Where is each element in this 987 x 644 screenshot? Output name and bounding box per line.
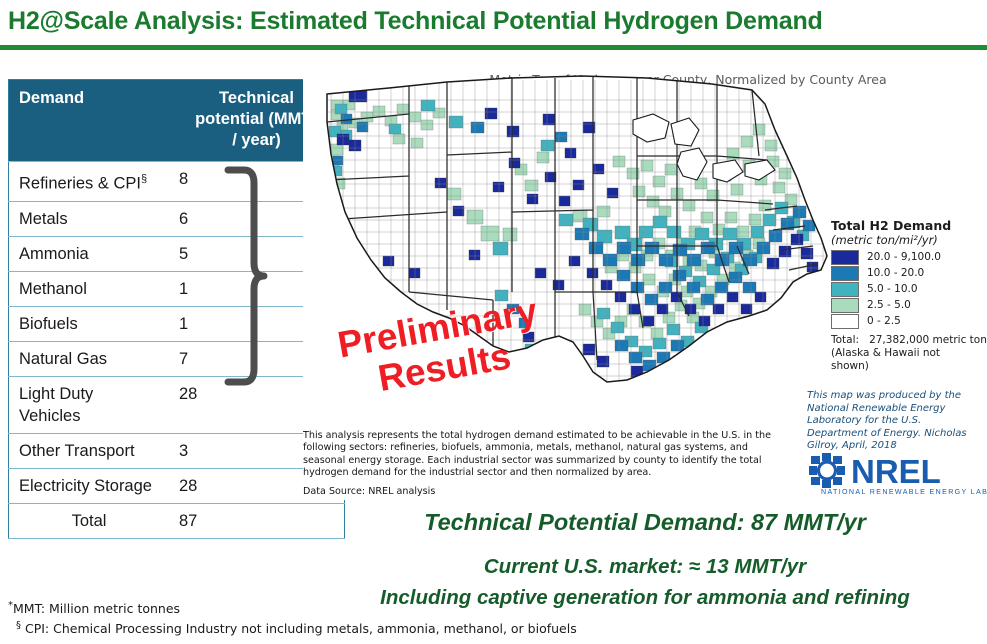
nrel-logo: NREL NATIONAL RENEWABLE ENERGY LABORATOR… — [807, 450, 987, 498]
footnote-marker: § — [141, 173, 147, 185]
column-header-line2: potential (MMT* — [195, 110, 318, 128]
legend-swatch — [831, 282, 859, 297]
legend-item: 2.5 - 5.0 — [831, 298, 981, 313]
table-header-row: Demand Technical potential (MMT* / year) — [9, 80, 345, 162]
column-header-line3: / year) — [232, 131, 281, 149]
cell-demand: Refineries & CPI§ — [9, 162, 170, 202]
column-header-line1: Technical — [219, 89, 294, 107]
cell-demand: Metals — [9, 201, 170, 236]
table-row: Natural Gas7 — [9, 341, 345, 376]
legend-label: 2.5 - 5.0 — [867, 299, 911, 312]
table-row: Methanol1 — [9, 271, 345, 306]
legend-item: 0 - 2.5 — [831, 314, 981, 329]
table-body: Refineries & CPI§8Metals6Ammonia5Methano… — [9, 162, 345, 539]
map-analysis-note: This analysis represents the total hydro… — [303, 430, 773, 479]
title-divider — [0, 45, 987, 50]
legend-units: (metric ton/mi²/yr) — [831, 233, 981, 247]
cell-demand: Other Transport — [9, 433, 170, 468]
legend-label: 10.0 - 20.0 — [867, 267, 924, 280]
table-row: Other Transport3 — [9, 433, 345, 468]
legend-item: 5.0 - 10.0 — [831, 282, 981, 297]
cell-demand: Natural Gas — [9, 341, 170, 376]
table-row: Refineries & CPI§8 — [9, 162, 345, 202]
map-data-source: Data Source: NREL analysis — [303, 486, 435, 497]
table-total-row: Total87 — [9, 503, 345, 538]
legend-item: 20.0 - 9,100.0 — [831, 250, 981, 265]
legend-label: 0 - 2.5 — [867, 315, 901, 328]
demand-table: Demand Technical potential (MMT* / year)… — [8, 79, 345, 539]
legend-swatch — [831, 298, 859, 313]
map-legend: Total H2 Demand (metric ton/mi²/yr) 20.0… — [831, 218, 981, 373]
cell-demand: Biofuels — [9, 306, 170, 341]
slide-root: H2@Scale Analysis: Estimated Technical P… — [0, 0, 987, 644]
table-header: Demand Technical potential (MMT* / year) — [9, 80, 345, 162]
summary-captive-generation: Including captive generation for ammonia… — [313, 586, 977, 610]
legend-note: (Alaska & Hawaii not shown) — [831, 347, 981, 373]
footnote-cpi: § CPI: Chemical Processing Industry not … — [16, 620, 577, 636]
map-panel: Metric Ton of Hydrogen per County, Norma… — [303, 58, 987, 500]
legend-rows: 20.0 - 9,100.010.0 - 20.05.0 - 10.02.5 -… — [831, 250, 981, 329]
nrel-logo-mark — [809, 453, 845, 488]
cell-demand: Ammonia — [9, 236, 170, 271]
cell-demand: Electricity Storage — [9, 468, 170, 503]
nrel-logo-tagline: NATIONAL RENEWABLE ENERGY LABORATORY — [821, 488, 987, 496]
legend-label: 20.0 - 9,100.0 — [867, 251, 941, 264]
legend-swatch — [831, 314, 859, 329]
column-header-demand: Demand — [9, 80, 170, 162]
table-row: Metals6 — [9, 201, 345, 236]
table-row: Ammonia5 — [9, 236, 345, 271]
legend-swatch — [831, 250, 859, 265]
footnote-text-cpi: CPI: Chemical Processing Industry not in… — [25, 621, 577, 636]
table-row: Light Duty Vehicles28 — [9, 376, 345, 433]
legend-swatch — [831, 266, 859, 281]
page-title: H2@Scale Analysis: Estimated Technical P… — [8, 4, 979, 38]
cell-total-label: Total — [9, 503, 170, 538]
summary-technical-potential: Technical Potential Demand: 87 MMT/yr — [313, 509, 977, 536]
nrel-logo-wordmark: NREL — [851, 453, 941, 490]
summary-current-market: Current U.S. market: ≈ 13 MMT/yr — [313, 555, 977, 579]
cell-demand: Light Duty Vehicles — [9, 376, 170, 433]
table-row: Biofuels1 — [9, 306, 345, 341]
footnote-mmt: *MMT: Million metric tonnes — [8, 600, 180, 616]
legend-total: Total: 27,382,000 metric ton H2 / yr — [831, 334, 981, 347]
legend-title: Total H2 Demand — [831, 218, 981, 233]
footnote-mark-section: § — [16, 620, 21, 631]
cell-demand: Methanol — [9, 271, 170, 306]
footnote-text-mmt: MMT: Million metric tonnes — [13, 601, 180, 616]
nrel-credit-text: This map was produced by the National Re… — [807, 390, 979, 453]
legend-item: 10.0 - 20.0 — [831, 266, 981, 281]
legend-label: 5.0 - 10.0 — [867, 283, 918, 296]
table-row: Electricity Storage28 — [9, 468, 345, 503]
nrel-logo-svg: NREL NATIONAL RENEWABLE ENERGY LABORATOR… — [807, 450, 987, 498]
